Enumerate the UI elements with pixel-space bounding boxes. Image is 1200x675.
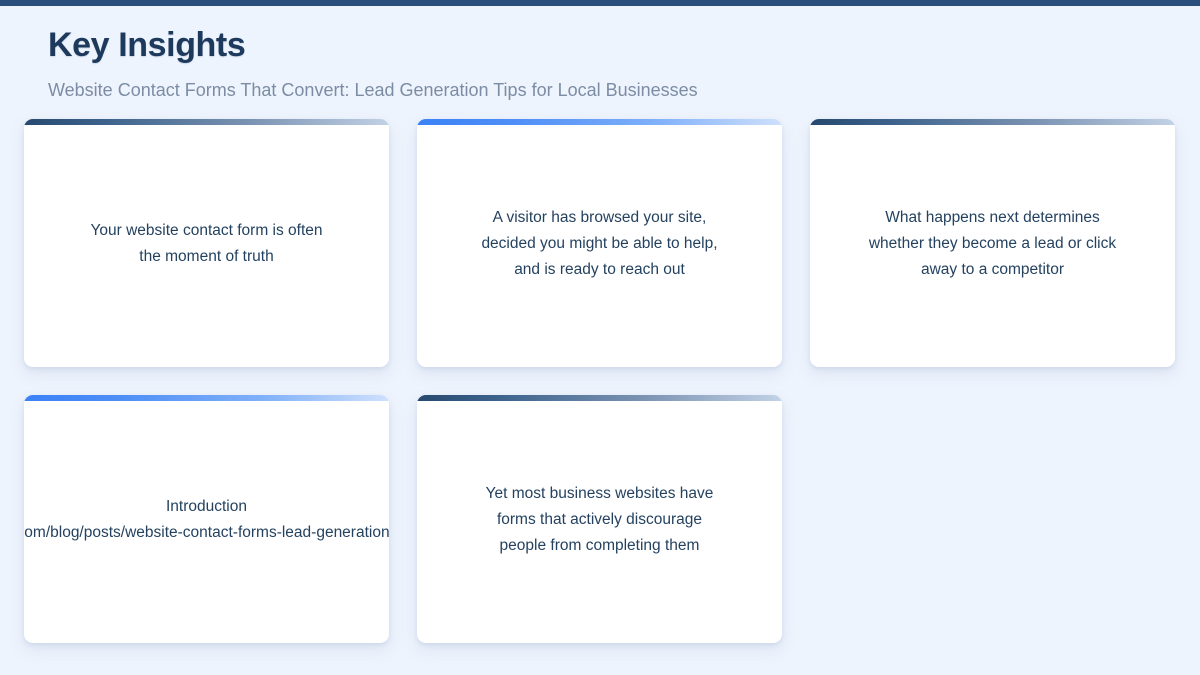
card-accent-bar: [24, 395, 389, 401]
card-accent-bar: [810, 119, 1175, 125]
card-text: Yet most business websites haveforms tha…: [417, 481, 782, 559]
insight-card[interactable]: Your website contact form is oftenthe mo…: [24, 119, 389, 367]
card-text-line: Introduction: [24, 494, 389, 520]
card-text: What happens next determineswhether they…: [810, 205, 1175, 283]
card-accent-bar: [417, 395, 782, 401]
insight-card[interactable]: Introductionhttps://example.com/blog/pos…: [24, 395, 389, 643]
insight-card[interactable]: A visitor has browsed your site,decided …: [417, 119, 782, 367]
card-text-line: Your website contact form is often: [42, 218, 371, 244]
card-text-line: A visitor has browsed your site,: [435, 205, 764, 231]
slide-page: Key Insights Website Contact Forms That …: [0, 6, 1200, 675]
card-text-line: the moment of truth: [42, 244, 371, 270]
card-accent-bar: [417, 119, 782, 125]
insight-card[interactable]: Yet most business websites haveforms tha…: [417, 395, 782, 643]
insight-card[interactable]: What happens next determineswhether they…: [810, 119, 1175, 367]
card-text-line: and is ready to reach out: [435, 257, 764, 283]
card-text: Your website contact form is oftenthe mo…: [24, 218, 389, 270]
card-accent-bar: [24, 119, 389, 125]
page-subtitle: Website Contact Forms That Convert: Lead…: [24, 77, 1176, 103]
card-text-line: whether they become a lead or click: [828, 231, 1157, 257]
card-text-line: people from completing them: [435, 533, 764, 559]
card-text-line: What happens next determines: [828, 205, 1157, 231]
top-accent-bar: [0, 0, 1200, 6]
page-title: Key Insights: [24, 24, 1176, 66]
card-text: A visitor has browsed your site,decided …: [417, 205, 782, 283]
card-text-line: Yet most business websites have: [435, 481, 764, 507]
card-text: Introductionhttps://example.com/blog/pos…: [24, 494, 389, 546]
card-text-line: decided you might be able to help,: [435, 231, 764, 257]
card-text-line: away to a competitor: [828, 257, 1157, 283]
card-text-line: forms that actively discourage: [435, 507, 764, 533]
insight-card-grid: Your website contact form is oftenthe mo…: [24, 119, 1176, 643]
card-overflow-url-line: https://example.com/blog/posts/website-c…: [24, 520, 389, 546]
